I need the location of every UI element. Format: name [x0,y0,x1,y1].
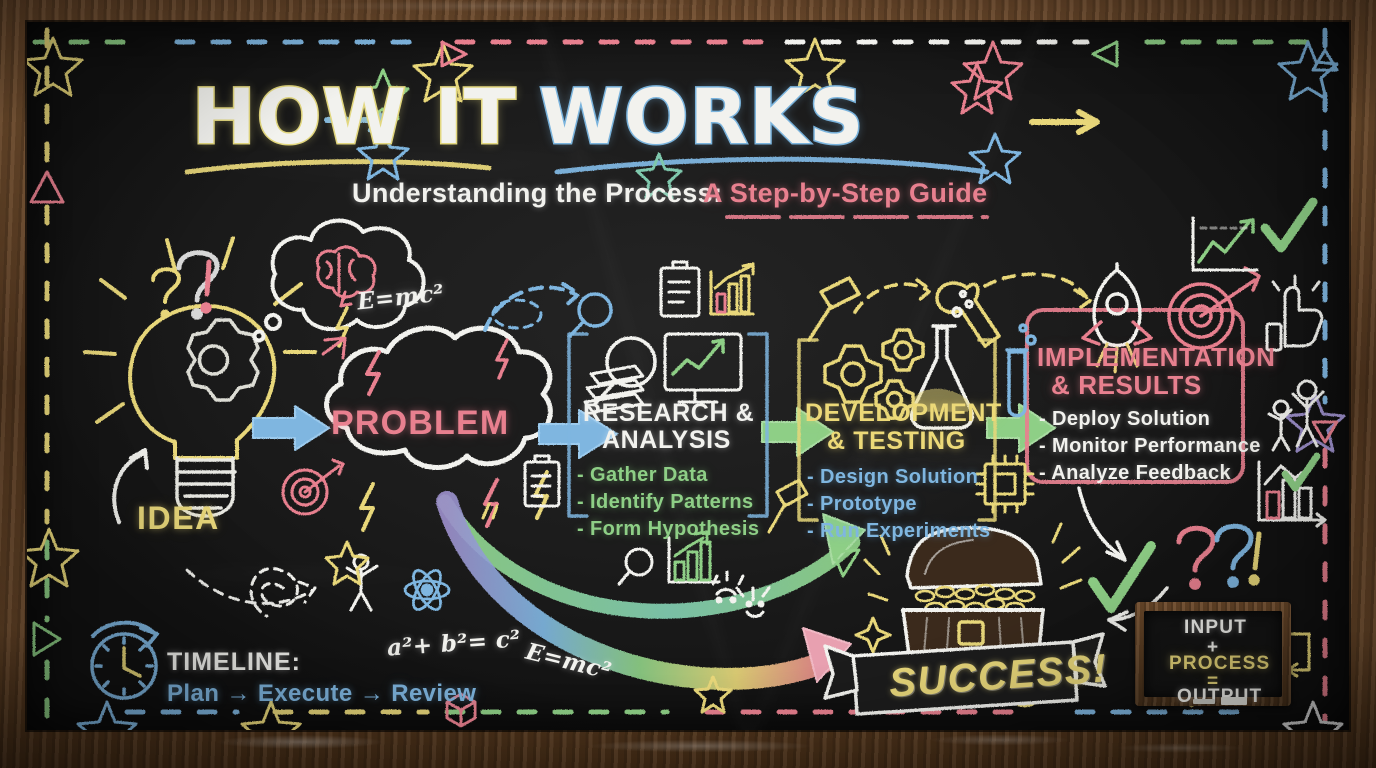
magnifier-icon [570,294,611,336]
chalkboard-surface: HOW IT WORKS Understanding the Process: … [27,22,1349,730]
check-mark-icon [1265,202,1313,248]
hammer-icon [769,480,807,532]
stage-bullet-implementation-1: - Monitor Performance [1039,433,1261,460]
question-mark-icon [1179,528,1213,587]
page-subtitle-white: Understanding the Process: [352,178,722,209]
mini-board-process: PROCESS [1169,653,1270,675]
page-subtitle-pink: A Step-by-Step Guide [703,178,988,209]
rocket-icon [1083,264,1151,346]
line-chart-icon [1193,218,1257,270]
border-triangle-icon [1093,42,1117,66]
page-title-part1: HOW IT [192,72,517,161]
title-star-icon [970,134,1020,183]
border-star-icon [27,529,78,586]
frame-chalk-ledge [0,726,1376,768]
stage-bullet-research-2: - Form Hypothesis [577,516,759,543]
stage-title-implementation-line2: & RESULTS [1051,372,1202,400]
title-underline-blue [557,159,987,172]
mini-board-chalk-stick [1193,699,1215,704]
stage-title-research-line2: ANALYSIS [602,427,731,454]
test-tube-icon [1007,325,1035,416]
magnifier-icon [619,549,652,584]
clipboard-icon [661,262,699,316]
implementation-down-arrow-icon [1079,488,1125,560]
stage-title-research-line1: RESEARCH & [583,400,754,427]
clock-icon [92,623,157,698]
arrow-idea-to-problem [253,406,329,450]
title-right-arrow-icon [1032,112,1097,132]
page-title-part2: WORKS [539,72,865,161]
problem-cloud-icon [327,328,551,467]
stage-bullet-development-2: - Run Experiments [807,518,991,545]
mini-chalkboard-frame: INPUT + PROCESS = OUTPUT [1135,602,1291,706]
target-dart-icon [1169,268,1259,348]
atom-icon [405,566,449,613]
bar-chart-icon [711,264,753,314]
timeline-steps: Plan → Execute → Review [167,680,476,708]
border-star-icon [78,702,136,730]
mini-board-eraser [1221,697,1247,705]
monitor-chart-icon [665,334,741,402]
stage-title-development-line1: DEVELOPMENT [805,400,1002,427]
stage-label-problem: PROBLEM [331,404,509,443]
bulb-gear-icon [188,320,258,400]
border-star-icon [1284,702,1342,730]
border-triangle-icon [34,623,60,655]
mini-board-input: INPUT [1184,617,1247,639]
lightning-bolt-icon [485,480,497,526]
stage-bullet-implementation-2: - Analyze Feedback [1039,460,1231,487]
lightning-bolt-icon [361,484,373,530]
stage-bullet-research-1: - Identify Patterns [577,489,754,516]
arrow-flight-icon [323,338,345,358]
question-mark-icon [1217,526,1251,585]
microchip-icon [977,456,1033,512]
chart-line-green-icon [673,340,723,374]
timeline-heading: TIMELINE: [167,648,301,677]
stage-title-development-line2: & TESTING [827,428,966,455]
stage-bullet-development-0: - Design Solution [807,464,978,491]
stage-title-implementation-line1: IMPLEMENTATION [1037,344,1276,372]
wooden-frame: HOW IT WORKS Understanding the Process: … [0,0,1376,768]
stage-label-idea: IDEA [137,500,220,537]
bar-chart-icon [1259,462,1325,526]
stage-bullet-research-0: - Gather Data [577,462,708,489]
thumbs-up-icon [1267,276,1322,350]
border-star-icon [27,38,82,95]
target-dart-icon [283,460,343,514]
stage-bullet-implementation-0: - Deploy Solution [1039,406,1210,433]
border-triangle-icon [31,172,63,202]
mini-chalkboard-surface: INPUT + PROCESS = OUTPUT [1144,611,1282,697]
stage-bullet-development-1: - Prototype [807,491,917,518]
mini-board-output: OUTPUT [1177,686,1262,708]
title-underline-yellow [187,162,489,172]
question-mark-icon [153,269,179,316]
spiral-icon [251,569,297,616]
hammer-icon [809,278,859,340]
